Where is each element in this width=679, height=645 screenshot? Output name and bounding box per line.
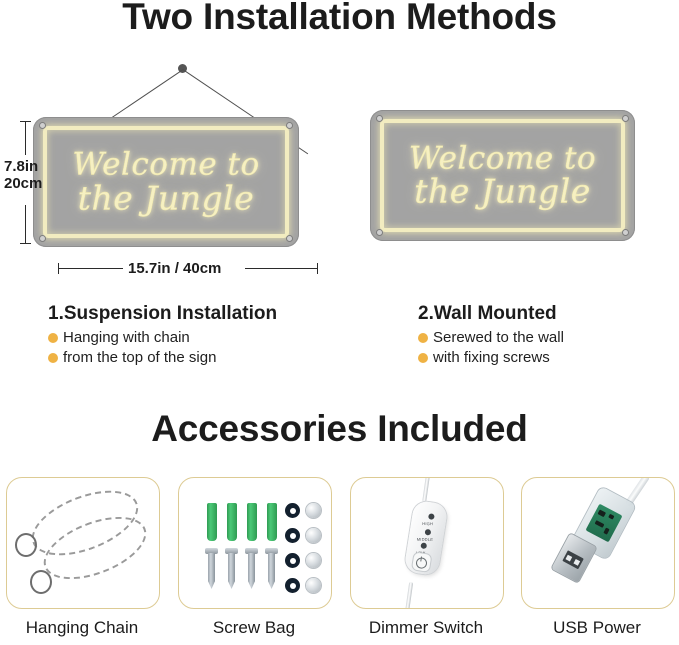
dimension-width-label: 15.7in / 40cm: [128, 260, 221, 277]
accessory-label-dimmer-switch: Dimmer Switch: [346, 618, 506, 638]
screw-bag-icon: [179, 478, 331, 608]
bullet-dot-icon: [418, 353, 428, 363]
dim-cap-bottom: [20, 243, 31, 244]
dimension-height-label: 7.8in 20cm: [4, 158, 42, 193]
mount-hole-2-bl: [377, 230, 382, 235]
dim-line-left: [58, 268, 123, 269]
usb-pcb: [585, 504, 622, 543]
mount-hole-tr: [287, 123, 292, 128]
chain-icon: [7, 478, 159, 608]
page-title-installation: Two Installation Methods: [0, 0, 679, 38]
dimmer-power-button[interactable]: [412, 552, 431, 571]
mount-hole-2-tl: [377, 116, 382, 121]
dim-cap-right: [317, 263, 318, 274]
method-2-title: 2.Wall Mounted: [418, 303, 564, 325]
accessory-card-usb-power[interactable]: [521, 477, 675, 609]
dimmer-switch-icon: HIGH MIDDLE LOW: [351, 478, 503, 608]
method-2-bullet-1-text: Serewed to the wall: [433, 329, 564, 346]
neon-border: [43, 126, 289, 238]
mount-hole-bl: [40, 236, 45, 241]
accessory-card-screw-bag[interactable]: [178, 477, 332, 609]
bullet-dot-icon: [48, 353, 58, 363]
usb-plug-icon: [522, 478, 674, 608]
power-icon: [415, 557, 428, 570]
neon-sign-wall-mounted: Welcome to the Jungle: [370, 110, 635, 241]
dimmer-body: HIGH MIDDLE LOW: [404, 500, 449, 576]
method-suspension: 1.Suspension Installation Hanging with c…: [48, 303, 277, 366]
bullet-dot-icon: [418, 333, 428, 343]
method-1-title: 1.Suspension Installation: [48, 303, 277, 325]
dimmer-level-high: HIGH: [422, 521, 433, 526]
neon-border-2: [380, 119, 625, 232]
mount-hole-2-tr: [623, 116, 628, 121]
method-1-bullet-1: Hanging with chain: [48, 329, 277, 346]
method-1-bullet-1-text: Hanging with chain: [63, 329, 190, 346]
accessory-label-hanging-chain: Hanging Chain: [2, 618, 162, 638]
dimension-height-inches: 7.8in: [4, 158, 38, 175]
method-1-bullet-2-text: from the top of the sign: [63, 349, 216, 366]
accessory-label-screw-bag: Screw Bag: [174, 618, 334, 638]
dim-line-upper: [25, 121, 26, 155]
accessory-card-dimmer-switch[interactable]: HIGH MIDDLE LOW: [350, 477, 504, 609]
dimmer-level-middle: MIDDLE: [417, 537, 433, 542]
method-2-bullet-1: Serewed to the wall: [418, 329, 564, 346]
method-1-bullet-2: from the top of the sign: [48, 349, 277, 366]
bullet-dot-icon: [48, 333, 58, 343]
dim-line-right: [245, 268, 317, 269]
dimension-height-cm: 20cm: [4, 175, 42, 192]
page-title-accessories: Accessories Included: [0, 408, 679, 450]
method-wall-mounted: 2.Wall Mounted Serewed to the wall with …: [418, 303, 564, 366]
mount-hole-br: [287, 236, 292, 241]
mount-hole-2-br: [623, 230, 628, 235]
neon-sign-suspension: Welcome to the Jungle: [33, 117, 299, 247]
dim-line-lower: [25, 205, 26, 243]
method-2-bullet-2-text: with fixing screws: [433, 349, 550, 366]
accessory-label-usb-power: USB Power: [517, 618, 677, 638]
accessory-card-hanging-chain[interactable]: [6, 477, 160, 609]
mount-hole-tl: [40, 123, 45, 128]
method-2-bullet-2: with fixing screws: [418, 349, 564, 366]
